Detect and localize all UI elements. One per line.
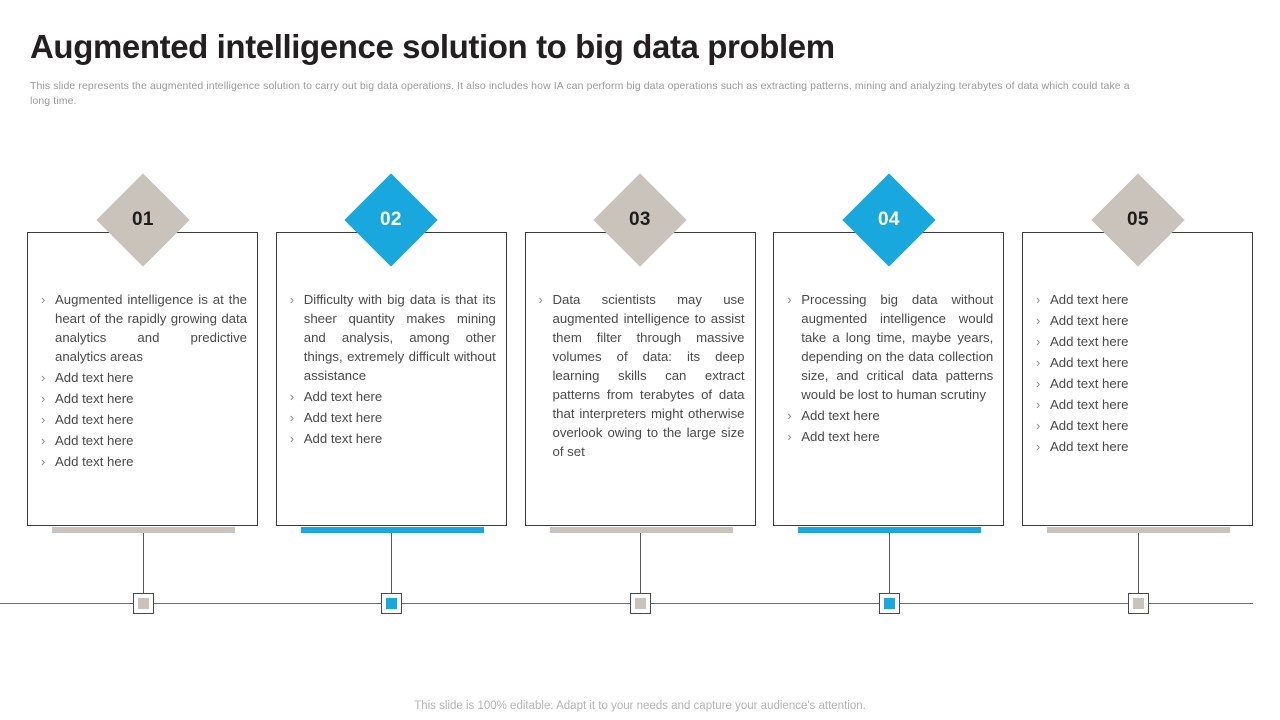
list-item[interactable]: ›Add text here: [39, 431, 247, 450]
list-item[interactable]: ›Add text here: [39, 368, 247, 387]
timeline-marker-02[interactable]: [381, 593, 402, 614]
card-body: ›Difficulty with big data is that its sh…: [276, 232, 507, 526]
list-item-label: Add text here: [1050, 332, 1242, 351]
list-item-label: Add text here: [1050, 437, 1242, 456]
list-item[interactable]: ›Add text here: [39, 389, 247, 408]
list-item-label: Augmented intelligence is at the heart o…: [55, 290, 247, 366]
chevron-right-icon: ›: [39, 290, 55, 309]
list-item-label: Add text here: [55, 389, 247, 408]
bullet-list: ›Augmented intelligence is at the heart …: [39, 290, 247, 473]
chevron-right-icon: ›: [1034, 437, 1050, 456]
list-item-label: Add text here: [1050, 416, 1242, 435]
card-body: ›Processing big data without augmented i…: [773, 232, 1004, 526]
step-number-label: 03: [629, 209, 651, 231]
list-item-label: Add text here: [801, 427, 993, 446]
chevron-right-icon: ›: [288, 387, 304, 406]
chevron-right-icon: ›: [785, 406, 801, 425]
list-item[interactable]: ›Augmented intelligence is at the heart …: [39, 290, 247, 366]
list-item-label: Data scientists may use augmented intell…: [553, 290, 745, 461]
chevron-right-icon: ›: [39, 431, 55, 450]
timeline-axis: [0, 603, 1253, 604]
list-item-label: Add text here: [304, 408, 496, 427]
list-item-label: Add text here: [55, 410, 247, 429]
bullet-list: ›Processing big data without augmented i…: [785, 290, 993, 448]
timeline-marker-05[interactable]: [1128, 593, 1149, 614]
list-item-label: Add text here: [55, 452, 247, 471]
card-body: ›Add text here›Add text here›Add text he…: [1022, 232, 1253, 526]
slide-canvas: Augmented intelligence solution to big d…: [0, 0, 1280, 720]
bullet-list: ›Difficulty with big data is that its sh…: [288, 290, 496, 450]
step-card-02[interactable]: ›Difficulty with big data is that its sh…: [276, 232, 507, 526]
list-item[interactable]: ›Add text here: [1034, 416, 1242, 435]
card-timeline-connector: [1138, 533, 1139, 593]
list-item[interactable]: ›Add text here: [785, 406, 993, 425]
list-item[interactable]: ›Add text here: [1034, 395, 1242, 414]
list-item[interactable]: ›Add text here: [1034, 311, 1242, 330]
card-accent-bar: [550, 527, 733, 533]
chevron-right-icon: ›: [1034, 332, 1050, 351]
list-item[interactable]: ›Add text here: [1034, 353, 1242, 372]
card-row: ›Augmented intelligence is at the heart …: [27, 232, 1253, 526]
chevron-right-icon: ›: [288, 408, 304, 427]
list-item[interactable]: ›Add text here: [1034, 437, 1242, 456]
list-item-label: Add text here: [1050, 353, 1242, 372]
timeline-marker-03[interactable]: [630, 593, 651, 614]
step-number-label: 01: [132, 209, 154, 231]
timeline-marker-fill: [138, 598, 149, 609]
card-timeline-connector: [889, 533, 890, 593]
chevron-right-icon: ›: [1034, 311, 1050, 330]
chevron-right-icon: ›: [1034, 374, 1050, 393]
list-item[interactable]: ›Add text here: [39, 452, 247, 471]
list-item-label: Add text here: [1050, 395, 1242, 414]
list-item[interactable]: ›Add text here: [39, 410, 247, 429]
list-item[interactable]: ›Add text here: [288, 429, 496, 448]
list-item-label: Add text here: [304, 429, 496, 448]
timeline-marker-04[interactable]: [879, 593, 900, 614]
list-item[interactable]: ›Add text here: [1034, 374, 1242, 393]
chevron-right-icon: ›: [288, 290, 304, 309]
card-body: ›Data scientists may use augmented intel…: [525, 232, 756, 526]
list-item[interactable]: ›Add text here: [288, 387, 496, 406]
chevron-right-icon: ›: [1034, 290, 1050, 309]
step-card-01[interactable]: ›Augmented intelligence is at the heart …: [27, 232, 258, 526]
list-item[interactable]: ›Add text here: [1034, 290, 1242, 309]
chevron-right-icon: ›: [288, 429, 304, 448]
list-item-label: Processing big data without augmented in…: [801, 290, 993, 404]
list-item-label: Add text here: [1050, 374, 1242, 393]
chevron-right-icon: ›: [39, 452, 55, 471]
step-card-03[interactable]: ›Data scientists may use augmented intel…: [525, 232, 756, 526]
card-timeline-connector: [391, 533, 392, 593]
list-item[interactable]: ›Add text here: [288, 408, 496, 427]
list-item-label: Add text here: [1050, 311, 1242, 330]
card-timeline-connector: [143, 533, 144, 593]
chevron-right-icon: ›: [1034, 395, 1050, 414]
list-item-label: Add text here: [304, 387, 496, 406]
timeline-marker-fill: [386, 598, 397, 609]
step-card-04[interactable]: ›Processing big data without augmented i…: [773, 232, 1004, 526]
chevron-right-icon: ›: [785, 290, 801, 309]
timeline-marker-fill: [1133, 598, 1144, 609]
chevron-right-icon: ›: [1034, 353, 1050, 372]
bullet-list: ›Add text here›Add text here›Add text he…: [1034, 290, 1242, 458]
list-item-label: Difficulty with big data is that its she…: [304, 290, 496, 385]
page-title: Augmented intelligence solution to big d…: [30, 28, 835, 66]
list-item[interactable]: ›Data scientists may use augmented intel…: [537, 290, 745, 461]
chevron-right-icon: ›: [1034, 416, 1050, 435]
list-item[interactable]: ›Processing big data without augmented i…: [785, 290, 993, 404]
timeline-marker-fill: [635, 598, 646, 609]
chevron-right-icon: ›: [39, 389, 55, 408]
list-item[interactable]: ›Add text here: [785, 427, 993, 446]
list-item-label: Add text here: [801, 406, 993, 425]
chevron-right-icon: ›: [537, 290, 553, 309]
list-item[interactable]: ›Difficulty with big data is that its sh…: [288, 290, 496, 385]
footer-note: This slide is 100% editable. Adapt it to…: [0, 700, 1280, 712]
card-timeline-connector: [640, 533, 641, 593]
step-number-label: 05: [1127, 209, 1149, 231]
chevron-right-icon: ›: [785, 427, 801, 446]
card-accent-bar: [301, 527, 484, 533]
list-item-label: Add text here: [55, 431, 247, 450]
step-number-label: 04: [878, 209, 900, 231]
slide-description: This slide represents the augmented inte…: [30, 79, 1140, 109]
list-item[interactable]: ›Add text here: [1034, 332, 1242, 351]
bullet-list: ›Data scientists may use augmented intel…: [537, 290, 745, 463]
step-card-05[interactable]: ›Add text here›Add text here›Add text he…: [1022, 232, 1253, 526]
list-item-label: Add text here: [1050, 290, 1242, 309]
chevron-right-icon: ›: [39, 368, 55, 387]
timeline-marker-fill: [884, 598, 895, 609]
list-item-label: Add text here: [55, 368, 247, 387]
timeline-marker-01[interactable]: [133, 593, 154, 614]
chevron-right-icon: ›: [39, 410, 55, 429]
card-body: ›Augmented intelligence is at the heart …: [27, 232, 258, 526]
step-number-label: 02: [380, 209, 402, 231]
